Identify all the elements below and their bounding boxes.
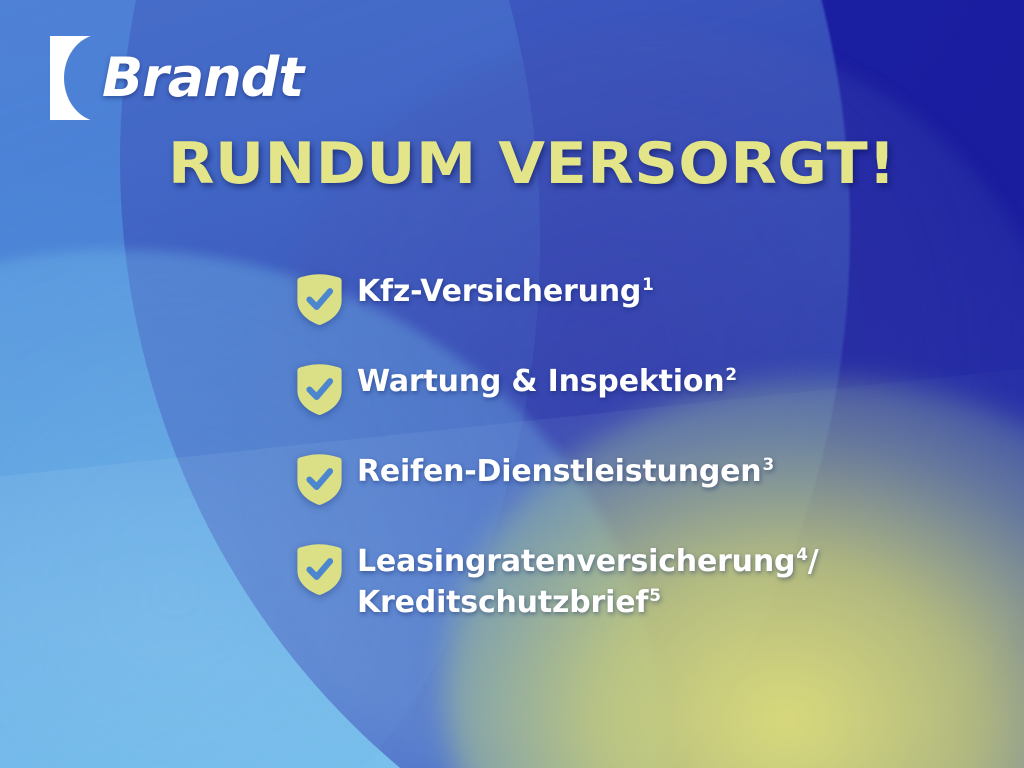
footnote-marker: 2 [725, 364, 736, 384]
list-item: Reifen-Dienstleistungen3 [296, 452, 819, 506]
page-title: RUNDUM VERSORGT! [168, 136, 896, 193]
benefit-label: Kfz-Versicherung [357, 274, 641, 309]
list-item: Wartung & Inspektion2 [296, 362, 819, 416]
list-item-label: Kfz-Versicherung1 [357, 272, 654, 313]
footnote-marker: 4 [796, 544, 807, 564]
list-item-label: Leasingratenversicherung4/ Kreditschutzb… [357, 542, 819, 624]
benefits-list: Kfz-Versicherung1 Wartung & Inspektion2 [296, 272, 819, 624]
benefit-label: Leasingratenversicherung [357, 544, 795, 579]
list-item-label: Wartung & Inspektion2 [357, 362, 737, 403]
benefit-label: Reifen-Dienstleistungen [357, 454, 761, 489]
shield-check-icon [296, 543, 343, 596]
list-item-label: Reifen-Dienstleistungen3 [357, 452, 774, 493]
brand-wordmark: Brandt [102, 51, 303, 105]
list-item: Leasingratenversicherung4/ Kreditschutzb… [296, 542, 819, 624]
promo-banner: Brandt RUNDUM VERSORGT! Kfz-Versicherung… [0, 0, 1024, 768]
benefit-label: Wartung & Inspektion [357, 364, 724, 399]
footnote-marker: 3 [762, 454, 773, 474]
brandt-bracket-mark-icon [50, 36, 98, 120]
footnote-marker: 1 [642, 274, 653, 294]
benefit-label-separator: / [808, 544, 819, 579]
shield-check-icon [296, 363, 343, 416]
shield-check-icon [296, 453, 343, 506]
footnote-marker: 5 [649, 585, 660, 605]
brand-logo: Brandt [50, 36, 303, 120]
shield-check-icon [296, 273, 343, 326]
benefit-label-line2: Kreditschutzbrief [357, 585, 648, 620]
list-item: Kfz-Versicherung1 [296, 272, 819, 326]
